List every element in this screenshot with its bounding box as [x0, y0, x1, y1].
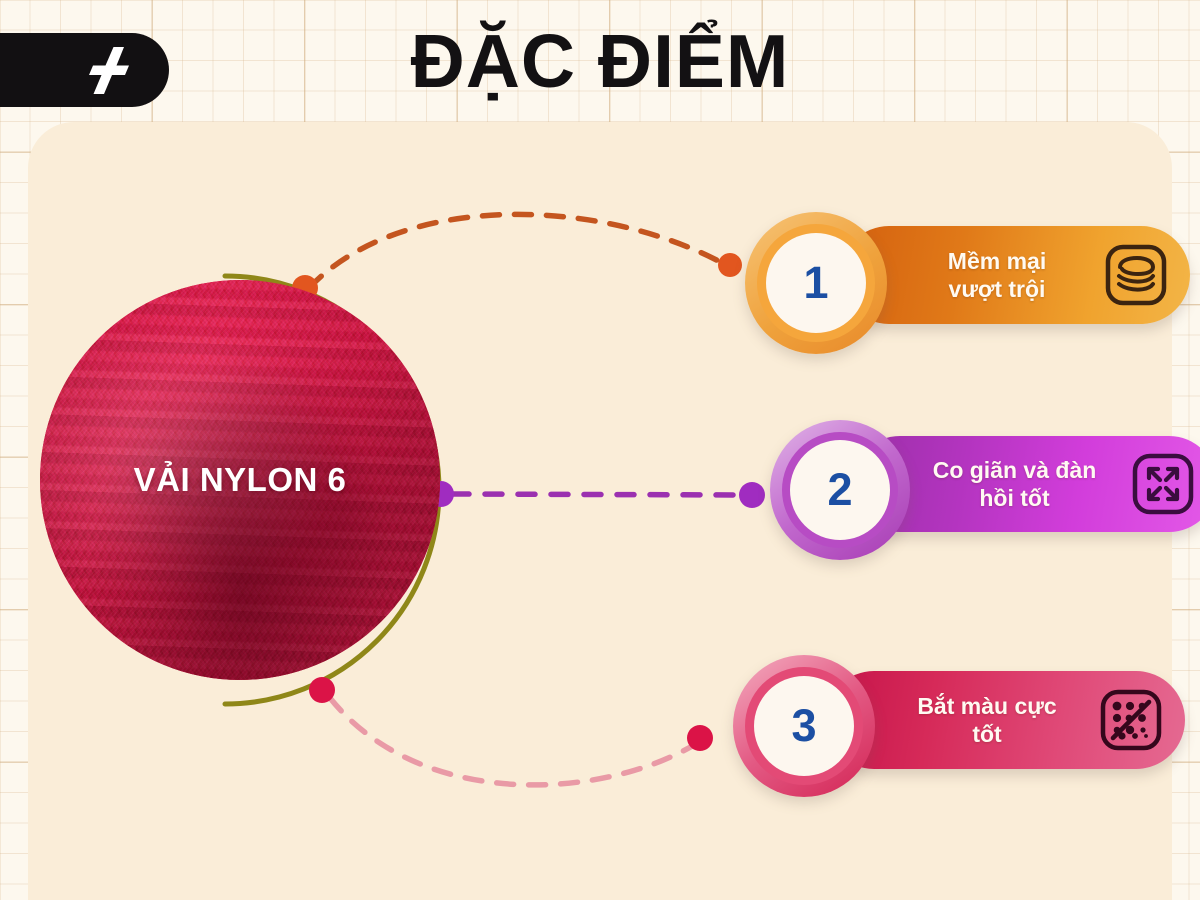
- feature-1-label-line2: vượt trội: [896, 275, 1098, 303]
- hero-fabric-circle: VẢI NYLON 6: [40, 280, 440, 680]
- page-title: ĐẶC ĐIỂM: [0, 18, 1200, 104]
- connector-3-dot-end: [687, 725, 713, 751]
- feature-2-label-line1: Co giãn và đàn: [904, 456, 1125, 484]
- brand-logo-badge[interactable]: [0, 33, 169, 107]
- expand-arrows-icon: [1131, 452, 1195, 516]
- feature-2-ring: 2: [782, 432, 898, 548]
- folded-fabric-layers-icon: [1104, 243, 1168, 307]
- feature-1-number-badge: 1: [745, 212, 887, 354]
- hero-subject: VẢI NYLON 6: [40, 260, 480, 720]
- feature-3-label-line1: Bắt màu cực: [881, 692, 1093, 720]
- dotted-dye-swatch-icon: [1099, 688, 1163, 752]
- feature-2-label-line2: hồi tốt: [904, 484, 1125, 512]
- slanted-cross-mark-icon: [83, 44, 135, 96]
- feature-1-number: 1: [766, 233, 866, 333]
- feature-1-ring: 1: [757, 224, 875, 342]
- feature-3-number: 3: [754, 676, 854, 776]
- connector-1-dot-end: [718, 253, 742, 277]
- feature-2-number: 2: [790, 440, 890, 540]
- hero-label: VẢI NYLON 6: [40, 280, 440, 680]
- feature-item-3[interactable]: Bắt màu cực tốt 3: [733, 655, 1163, 803]
- feature-item-2[interactable]: Co giãn và đàn hồi tốt 2: [770, 420, 1170, 562]
- infographic-canvas: ĐẶC ĐIỂM VẢI NYLON 6 Mềm mại: [0, 0, 1200, 900]
- feature-2-number-badge: 2: [770, 420, 910, 560]
- feature-3-label-line2: tốt: [881, 720, 1093, 748]
- feature-1-label-line1: Mềm mại: [896, 247, 1098, 275]
- connector-2-path: [452, 494, 742, 495]
- feature-1-pill[interactable]: Mềm mại vượt trội: [840, 226, 1190, 324]
- feature-3-pill[interactable]: Bắt màu cực tốt: [825, 671, 1185, 769]
- feature-item-1[interactable]: Mềm mại vượt trội 1: [745, 212, 1165, 352]
- feature-3-number-badge: 3: [733, 655, 875, 797]
- connector-2-dot-end: [739, 482, 765, 508]
- feature-3-ring: 3: [745, 667, 863, 785]
